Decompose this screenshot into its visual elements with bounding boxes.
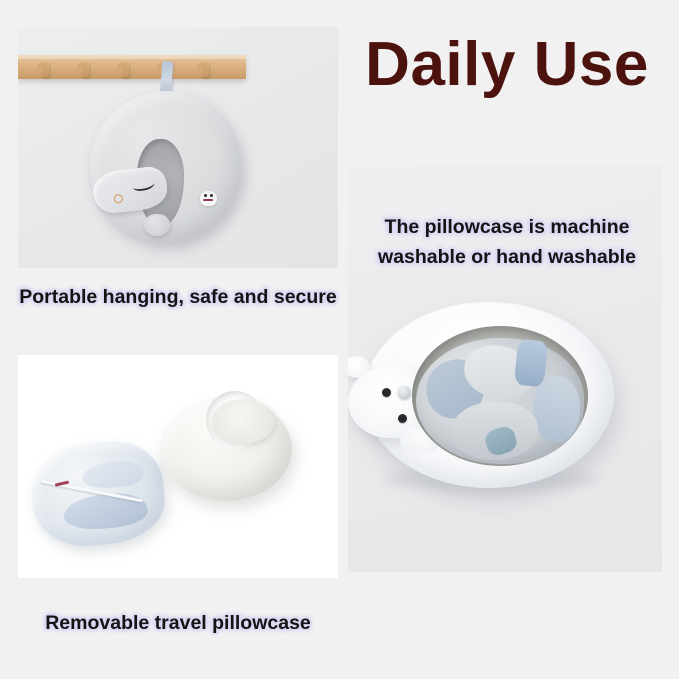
caption-portable-hanging: Portable hanging, safe and secure xyxy=(18,282,338,312)
foam-upper-arm xyxy=(212,399,274,443)
wooden-coat-rack xyxy=(18,55,246,79)
laundry-fold-4 xyxy=(534,376,580,442)
infographic-page: Daily Use Portable hanging, safe and sec… xyxy=(0,0,679,679)
caption-machine-washable: The pillowcase is machine washable or ha… xyxy=(352,212,662,272)
pillowcase-fold-inner xyxy=(62,491,149,532)
photo-removable-pillowcase xyxy=(18,355,338,578)
pillowcase-fold-top xyxy=(81,459,145,490)
caption-removable-pillowcase: Removable travel pillowcase xyxy=(18,608,338,638)
rack-hook-1 xyxy=(42,62,49,77)
rack-hook-5 xyxy=(202,62,209,77)
washing-machine xyxy=(364,302,614,488)
rack-hook-2 xyxy=(82,62,89,77)
machine-eye-left-icon xyxy=(382,388,391,397)
travel-pillow xyxy=(90,91,242,243)
page-title: Daily Use xyxy=(352,24,662,106)
machine-eye-right-icon xyxy=(398,414,407,423)
rack-hook-3 xyxy=(122,62,129,77)
photo-travel-pillow-hanging xyxy=(18,27,338,268)
sleep-mask-closed-eye-icon xyxy=(132,177,156,192)
embroidered-patch-icon xyxy=(200,191,217,206)
sleep-mask-cheek-icon xyxy=(113,194,123,204)
machine-control-knob[interactable] xyxy=(398,386,411,399)
pillowcase-in-drum xyxy=(416,338,584,464)
washing-machine-drum xyxy=(412,326,588,466)
pillow-bottom-knot xyxy=(144,214,170,236)
memory-foam-core xyxy=(160,397,292,501)
